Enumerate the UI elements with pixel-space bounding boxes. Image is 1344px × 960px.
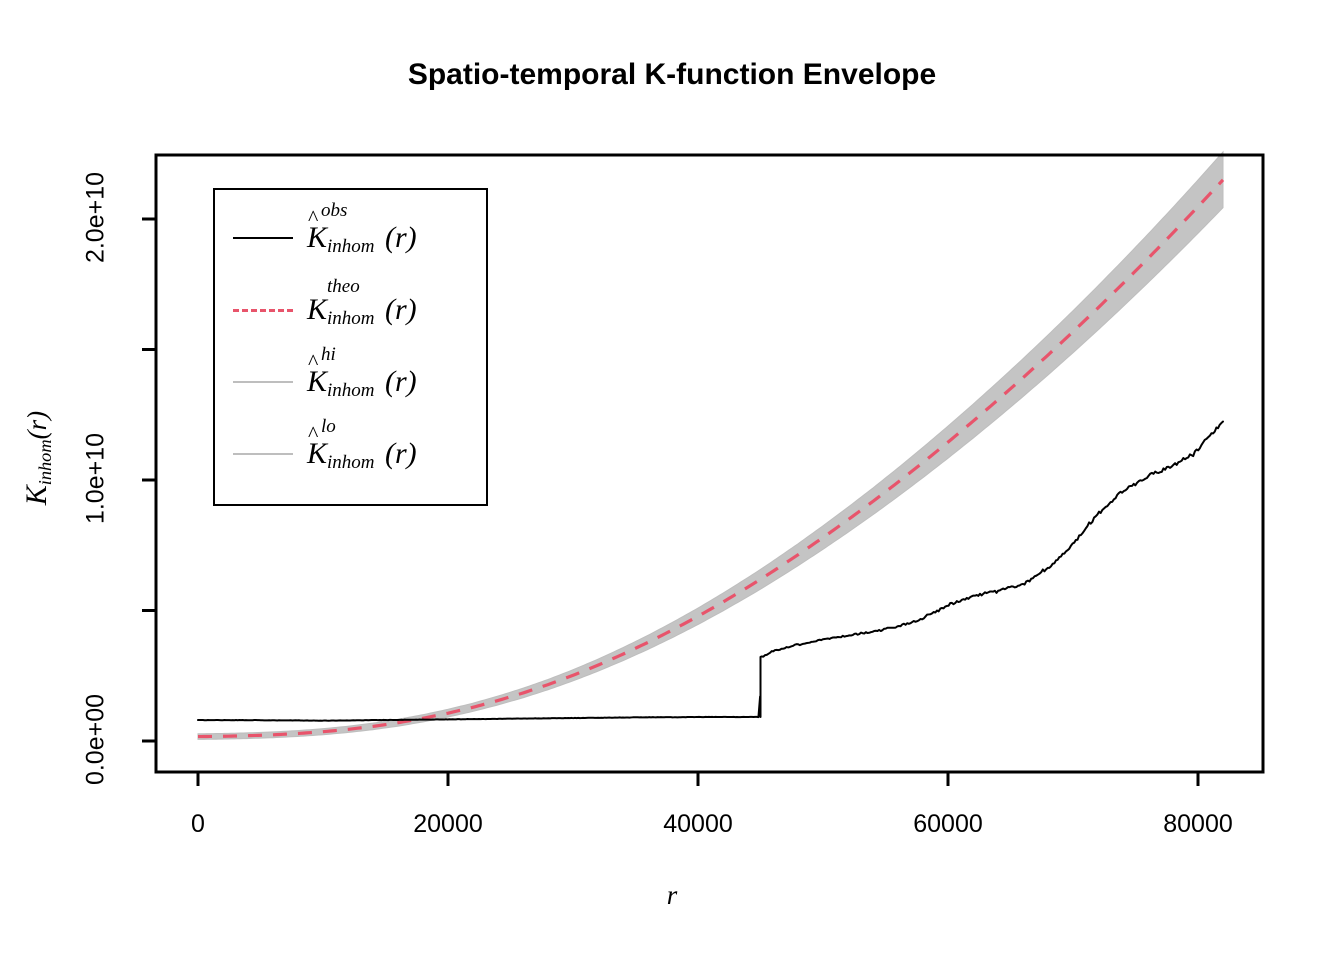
legend-symbol-superscript: lo: [321, 417, 336, 436]
legend-symbol-subscript: inhom: [327, 453, 375, 472]
legend-symbol-superscript: obs: [321, 201, 347, 220]
y-axis-label: Kinhom(r): [20, 358, 56, 558]
solid-line-icon: [233, 237, 293, 239]
legend-symbol-subscript: inhom: [327, 309, 375, 328]
legend-line-swatch: [215, 202, 307, 274]
legend-symbol-base: K: [307, 293, 327, 326]
legend-line-swatch: [215, 418, 307, 490]
legend-symbol-argument: (r): [385, 221, 417, 254]
legend-entry-label: ^Kloinhom(r): [307, 439, 417, 469]
legend-entry-label: ^Kobsinhom(r): [307, 223, 417, 253]
dashed-line-icon: [233, 309, 293, 312]
legend-line-swatch: [215, 274, 307, 346]
legend-entry: Ktheoinhom(r): [215, 274, 490, 346]
y-tick-label: 1.0e+10: [82, 419, 111, 539]
legend-entry: ^Kobsinhom(r): [215, 202, 490, 274]
x-tick-label: 20000: [378, 810, 518, 839]
legend-symbol-subscript: inhom: [327, 237, 375, 256]
legend: ^Kobsinhom(r)Ktheoinhom(r)^Khiinhom(r)^K…: [213, 188, 488, 506]
legend-symbol-superscript: theo: [327, 277, 360, 296]
chart-canvas: Spatio-temporal K-function Envelope 0.0e…: [0, 0, 1344, 960]
legend-entry-label: ^Khiinhom(r): [307, 367, 417, 397]
y-tick-label: 0.0e+00: [82, 680, 111, 800]
y-axis-label-subscript: inhom: [35, 439, 55, 485]
legend-symbol-argument: (r): [385, 293, 417, 326]
solid-line-icon: [233, 381, 293, 383]
y-axis-label-tail: (r): [22, 411, 52, 440]
legend-line-swatch: [215, 346, 307, 418]
hat-accent-icon: ^: [308, 207, 318, 229]
x-axis-label: r: [0, 880, 1344, 911]
solid-line-icon: [233, 453, 293, 455]
x-tick-label: 80000: [1128, 810, 1268, 839]
legend-entry-label: Ktheoinhom(r): [307, 295, 417, 325]
y-tick-label: 2.0e+10: [82, 158, 111, 278]
x-tick-label: 60000: [878, 810, 1018, 839]
legend-symbol-argument: (r): [385, 437, 417, 470]
hat-accent-icon: ^: [308, 423, 318, 445]
legend-entry: ^Kloinhom(r): [215, 418, 490, 490]
hat-accent-icon: ^: [308, 351, 318, 373]
legend-symbol-subscript: inhom: [327, 381, 375, 400]
x-tick-label: 40000: [628, 810, 768, 839]
x-tick-label: 0: [128, 810, 268, 839]
legend-symbol-superscript: hi: [321, 345, 336, 364]
legend-entry: ^Khiinhom(r): [215, 346, 490, 418]
legend-symbol-argument: (r): [385, 365, 417, 398]
y-axis-label-base: K: [20, 485, 53, 505]
